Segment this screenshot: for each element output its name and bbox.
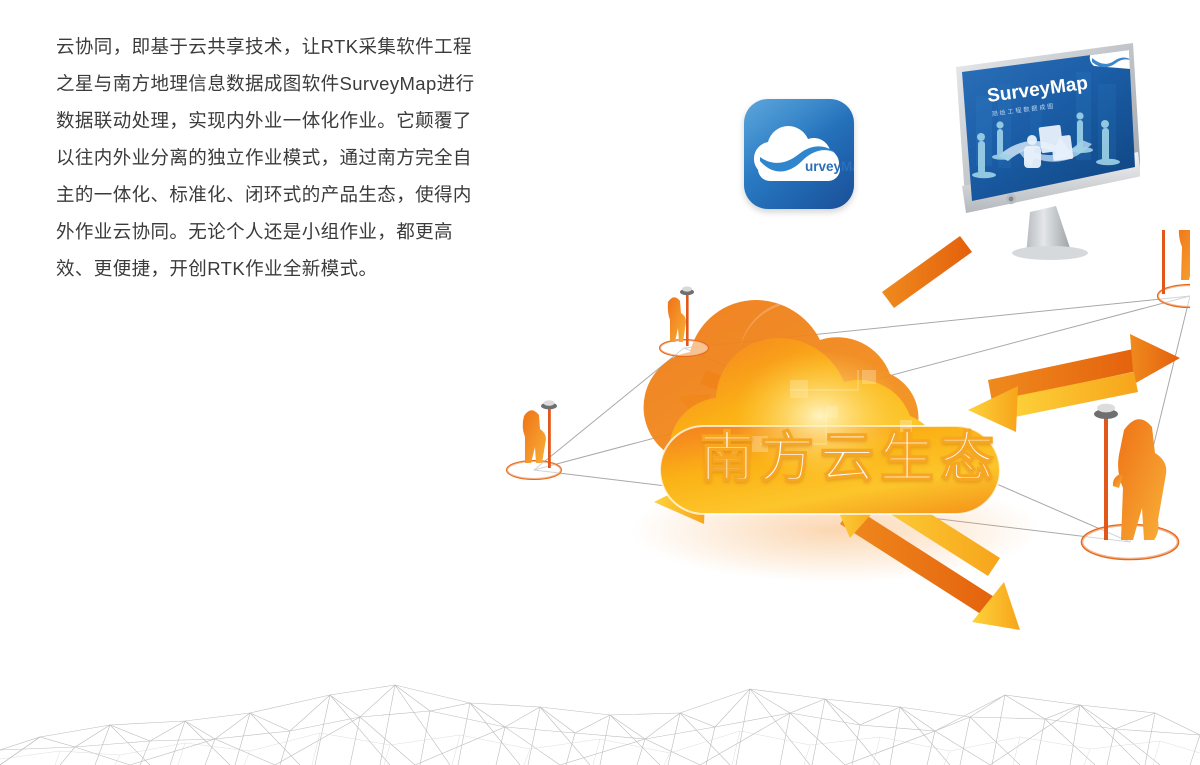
app-icon-label: urveyMap	[805, 159, 854, 174]
body-copy-line: 数据联动处理，实现内外业一体化作业。它颠覆了	[56, 102, 526, 139]
body-copy-line: 以往内外业分离的独立作业模式，通过南方完全自	[56, 139, 526, 176]
node-bottom-right	[1082, 404, 1178, 559]
body-copy-line: 外作业云协同。无论个人还是小组作业，都更高	[56, 213, 526, 250]
body-copy-line: 主的一体化、标准化、闭环式的产品生态，使得内	[56, 176, 526, 213]
wireframe-mountain-range	[0, 655, 1200, 765]
surveymap-app-icon[interactable]: urveyMap	[744, 99, 854, 209]
poster-canvas: 云协同，即基于云共享技术，让RTK采集软件工程 之星与南方地理信息数据成图软件S…	[0, 0, 1200, 765]
cloud-shape	[644, 300, 1000, 514]
cloud-icon: urveyMap	[744, 99, 854, 209]
body-copy-line: 之星与南方地理信息数据成图软件SurveyMap进行	[56, 65, 526, 102]
cloud-ecosystem-diagram	[490, 230, 1190, 650]
power-button-dot	[1009, 197, 1014, 202]
node-bottom-left	[507, 400, 561, 479]
arrow-to-monitor-in	[894, 230, 990, 304]
node-top-right	[1154, 230, 1190, 307]
body-copy-line: 云协同，即基于云共享技术，让RTK采集软件工程	[56, 28, 526, 65]
body-copy: 云协同，即基于云共享技术，让RTK采集软件工程 之星与南方地理信息数据成图软件S…	[56, 28, 526, 287]
body-copy-line: 效、更便捷，开创RTK作业全新模式。	[56, 250, 526, 287]
node-top-left	[660, 286, 708, 356]
